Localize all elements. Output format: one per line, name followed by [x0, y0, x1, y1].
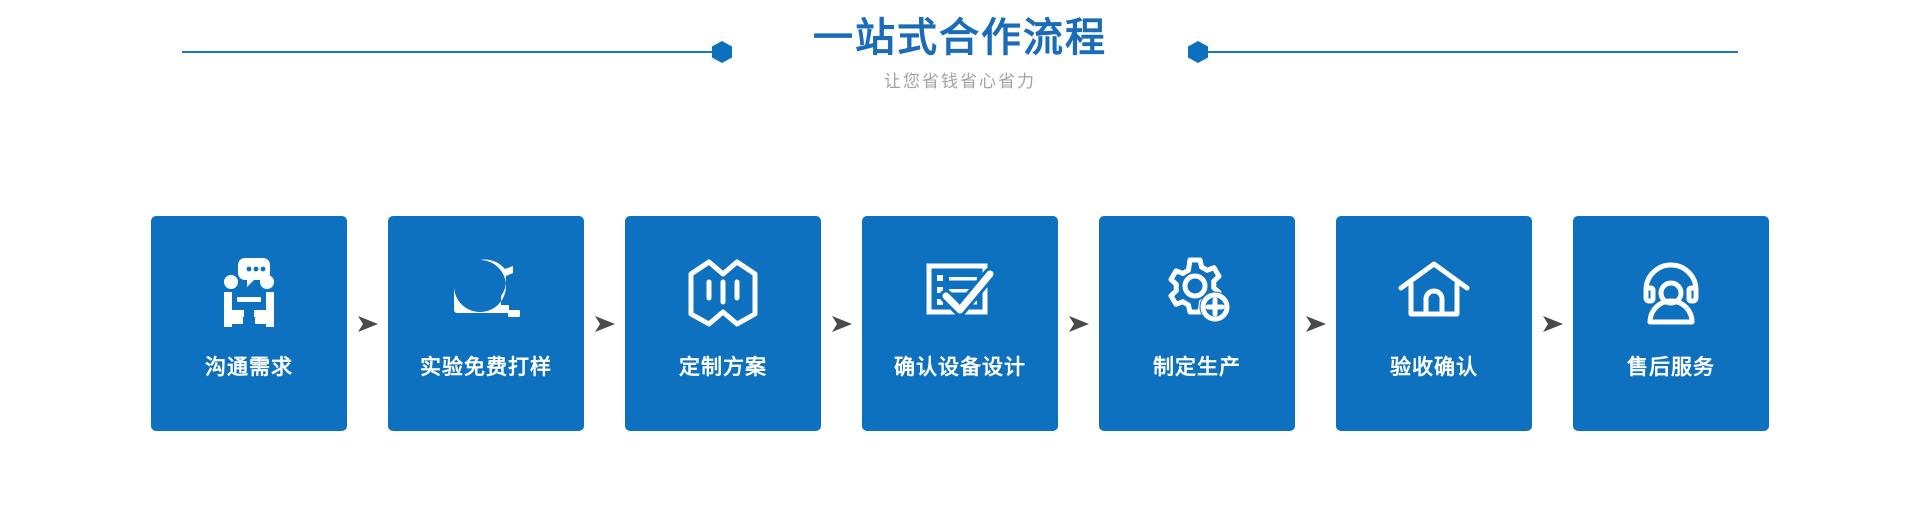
header-title-block: 一站式合作流程 让您省钱省心省力: [0, 12, 1920, 94]
flow-step-label: 售后服务: [1627, 354, 1715, 382]
flow-separator-arrow: [821, 216, 862, 431]
flow-step-label: 确认设备设计: [894, 354, 1026, 382]
flow-step-label: 验收确认: [1390, 354, 1478, 382]
flow-step-after-sales[interactable]: 售后服务: [1573, 216, 1769, 431]
flow-separator-arrow: [584, 216, 625, 431]
flow-step-label: 沟通需求: [205, 354, 293, 382]
tape-measure-icon: [446, 252, 526, 332]
headset-support-icon: [1631, 252, 1711, 332]
flow-step-confirm-design[interactable]: 确认设备设计: [862, 216, 1058, 431]
flow-step-acceptance[interactable]: 验收确认: [1336, 216, 1532, 431]
flow-separator-arrow: [1295, 216, 1336, 431]
meeting-discussion-icon: [209, 252, 289, 332]
flow-step-label: 实验免费打样: [420, 354, 552, 382]
page-root: 一站式合作流程 让您省钱省心省力: [0, 0, 1920, 532]
flow-step-custom-plan[interactable]: 定制方案: [625, 216, 821, 431]
process-flow: 沟通需求 实验免费打样: [0, 216, 1920, 431]
page-header: 一站式合作流程 让您省钱省心省力: [0, 0, 1920, 140]
flow-step-label: 定制方案: [679, 354, 767, 382]
flow-step-production-plan[interactable]: 制定生产: [1099, 216, 1295, 431]
flow-separator-arrow: [1532, 216, 1573, 431]
flow-separator-arrow: [347, 216, 388, 431]
flow-step-communication[interactable]: 沟通需求: [151, 216, 347, 431]
flow-step-label: 制定生产: [1153, 354, 1241, 382]
flow-step-free-sampling[interactable]: 实验免费打样: [388, 216, 584, 431]
page-title: 一站式合作流程: [0, 12, 1920, 64]
checklist-check-icon: [920, 252, 1000, 332]
gear-plus-icon: [1157, 252, 1237, 332]
page-subtitle: 让您省钱省心省力: [0, 70, 1920, 94]
house-icon: [1394, 252, 1474, 332]
folded-map-icon: [683, 252, 763, 332]
flow-separator-arrow: [1058, 216, 1099, 431]
